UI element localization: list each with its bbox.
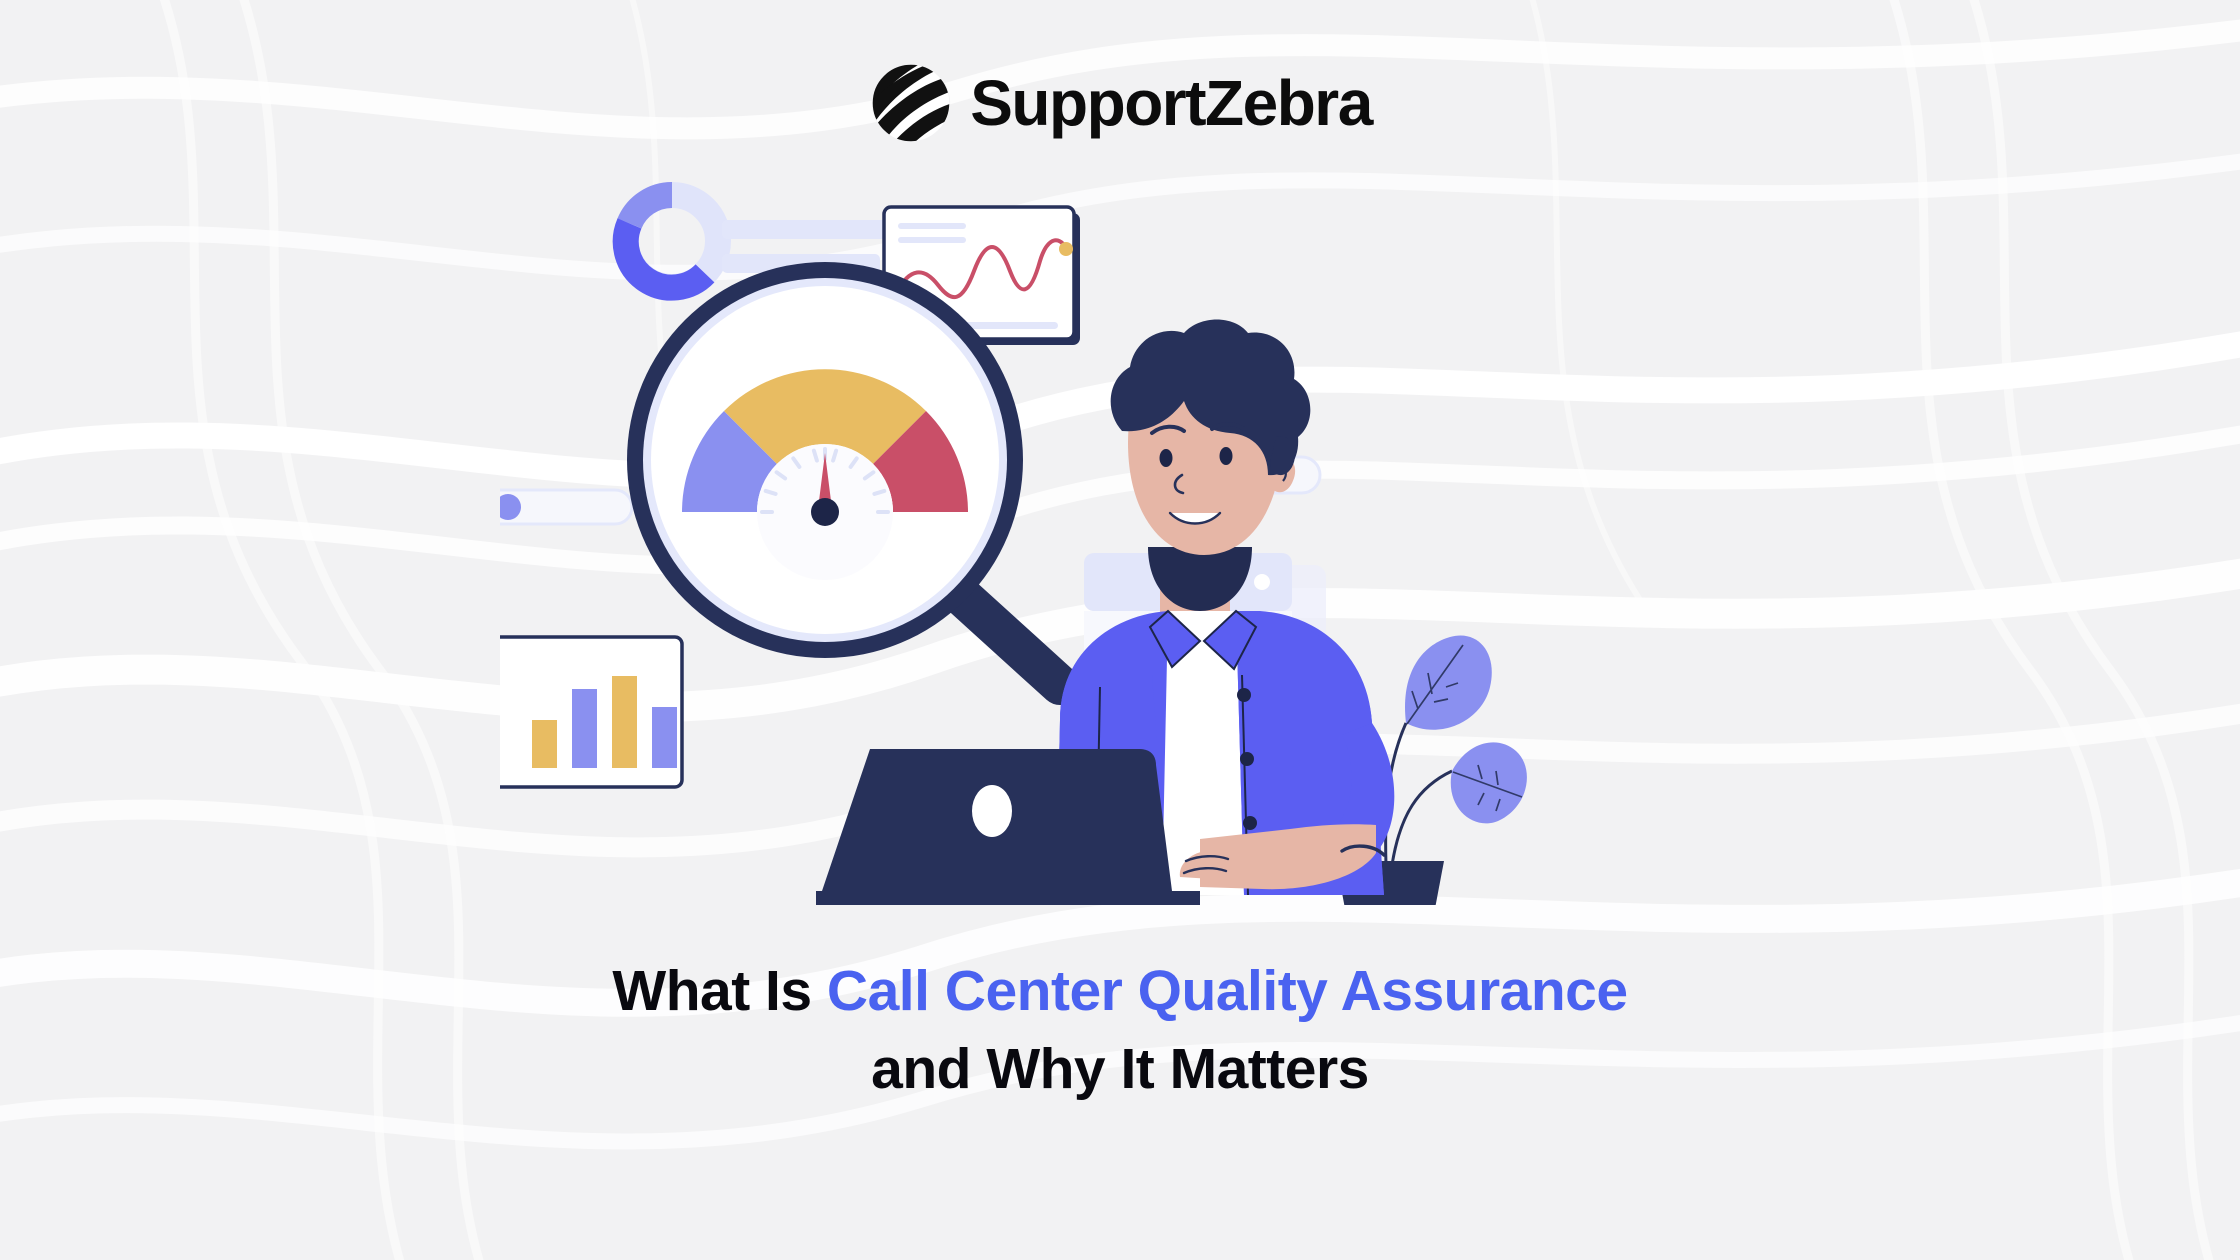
bar-chart-card [500, 637, 682, 787]
bar-1 [532, 720, 557, 768]
magnifying-glass [627, 262, 1023, 658]
magnifier-handle [952, 587, 1060, 685]
shirt-button [1237, 688, 1251, 702]
headline-line-1: What Is Call Center Quality Assurance [0, 960, 2240, 1024]
brand-logo[interactable]: SupportZebra [0, 60, 2240, 146]
shirt-button [1240, 752, 1254, 766]
brand-name: SupportZebra [970, 71, 1372, 135]
bar-2 [572, 689, 597, 768]
headline-line-2: and Why It Matters [0, 1038, 2240, 1102]
hero-illustration [500, 175, 1740, 905]
bar-4 [652, 707, 677, 768]
headline: What Is Call Center Quality Assurance an… [0, 960, 2240, 1102]
pill-left [500, 490, 632, 524]
headline-plain-text: What Is [612, 959, 827, 1023]
laptop [816, 749, 1200, 905]
headline-accent-text: Call Center Quality Assurance [827, 959, 1628, 1023]
banner-canvas: SupportZebra [0, 0, 2240, 1260]
donut-chart-icon [626, 195, 718, 288]
shirt-button [1243, 816, 1257, 830]
laptop-logo-icon [972, 785, 1012, 837]
bar-3 [612, 676, 637, 768]
zebra-sphere-icon [868, 60, 954, 146]
